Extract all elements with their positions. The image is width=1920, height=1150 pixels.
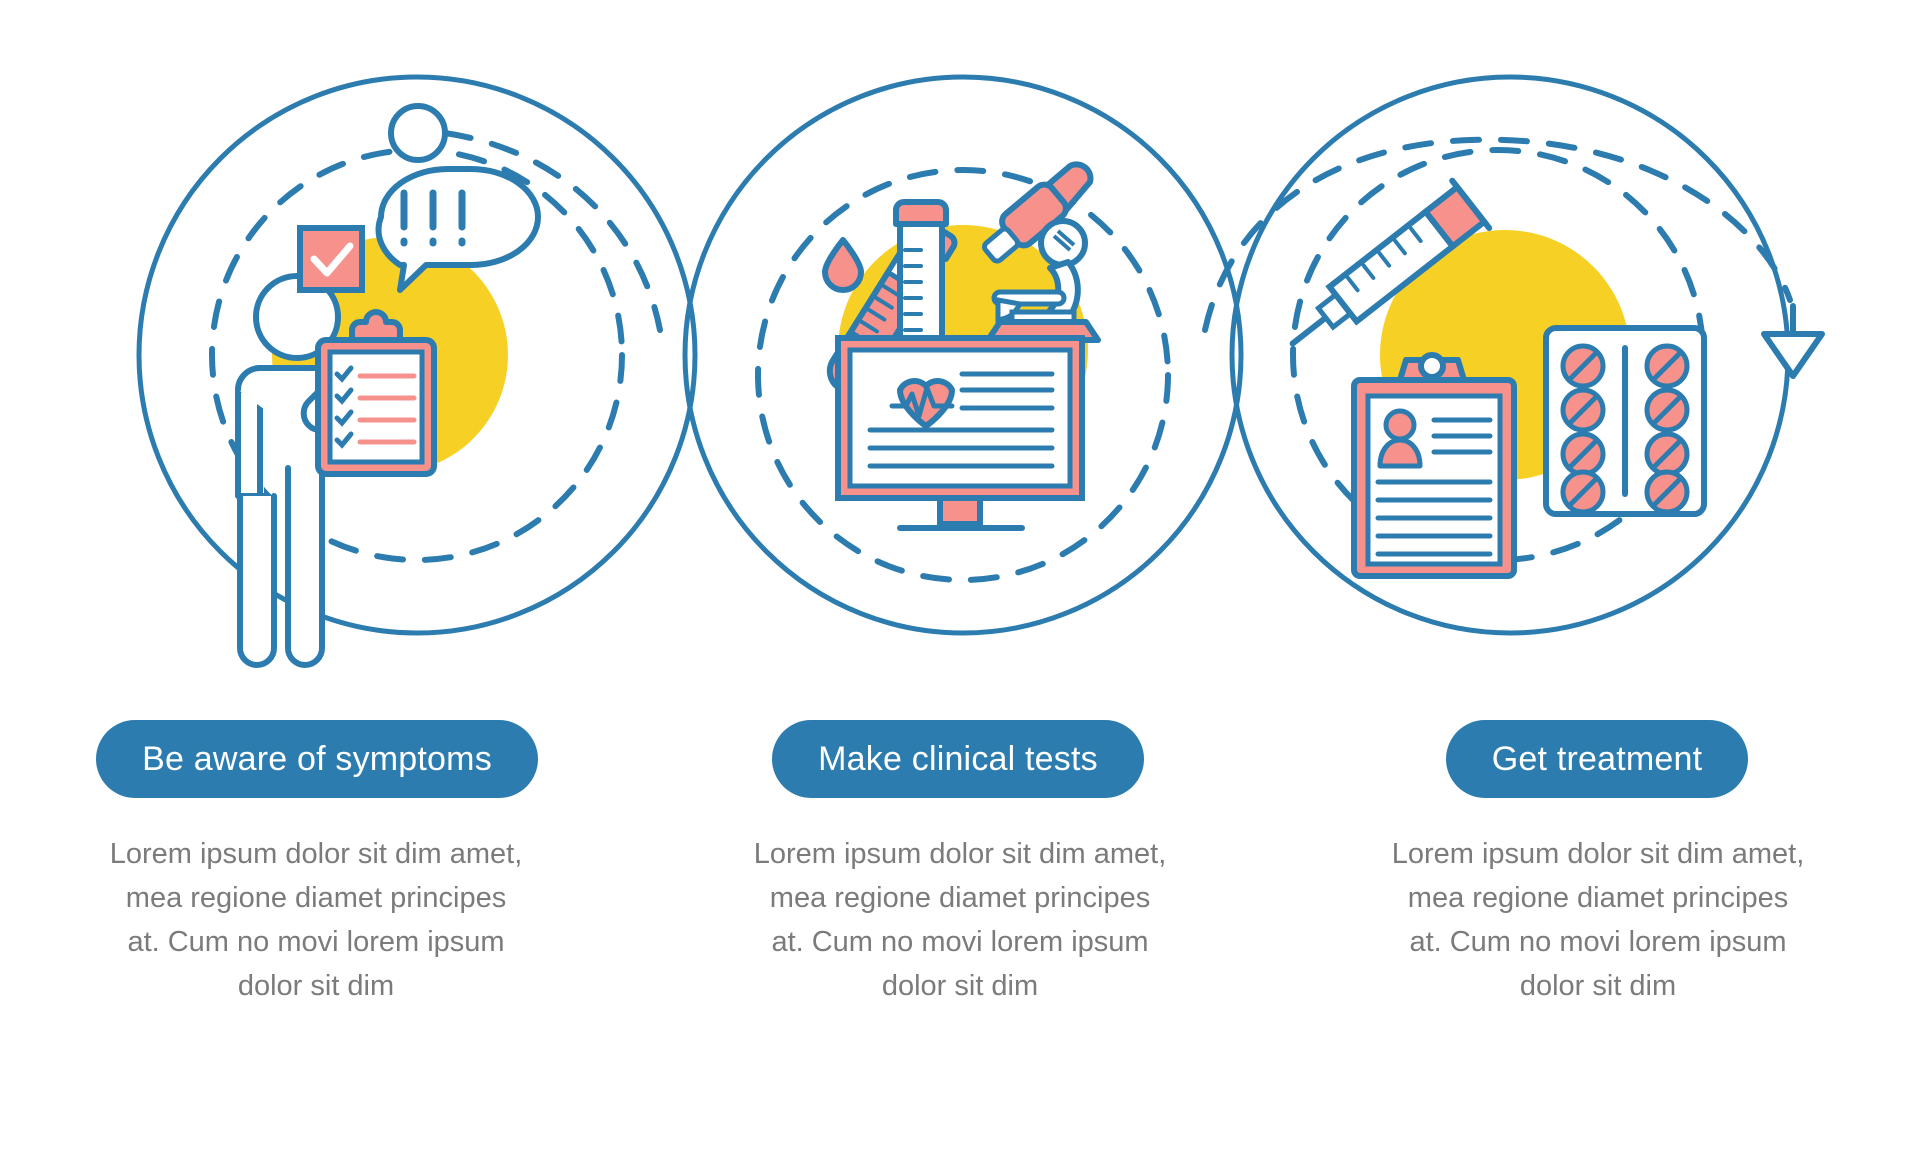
- step-1-label-button[interactable]: Be aware of symptoms: [96, 720, 538, 798]
- step-3-graphic: [1232, 77, 1788, 633]
- step-2-column: Make clinical tests Lorem ipsum dolor si…: [640, 720, 1280, 1008]
- pill-blister-pack-icon: [1546, 328, 1704, 514]
- start-circle-marker: [391, 106, 445, 160]
- step-3-label-button[interactable]: Get treatment: [1446, 720, 1748, 798]
- end-arrow-marker: [1764, 306, 1822, 376]
- infographic-canvas: Be aware of symptoms Lorem ipsum dolor s…: [0, 0, 1920, 1150]
- patient-record-clipboard-icon: [1354, 355, 1514, 576]
- blood-drop-icon: [825, 240, 861, 290]
- step-1-column: Be aware of symptoms Lorem ipsum dolor s…: [0, 720, 640, 1008]
- step-2-label-button[interactable]: Make clinical tests: [772, 720, 1144, 798]
- step-1-graphic: [139, 77, 695, 665]
- step-3-column: Get treatment Lorem ipsum dolor sit dim …: [1280, 720, 1920, 1008]
- step-2-description: Lorem ipsum dolor sit dim amet, mea regi…: [750, 832, 1170, 1008]
- step-3-description: Lorem ipsum dolor sit dim amet, mea regi…: [1388, 832, 1808, 1008]
- step-1-description: Lorem ipsum dolor sit dim amet, mea regi…: [106, 832, 526, 1008]
- steps-text-row: Be aware of symptoms Lorem ipsum dolor s…: [0, 720, 1920, 1008]
- checkbox-checked-icon: [300, 228, 362, 290]
- monitor-ecg-report-icon: [838, 338, 1082, 528]
- step-2-graphic: [685, 77, 1241, 633]
